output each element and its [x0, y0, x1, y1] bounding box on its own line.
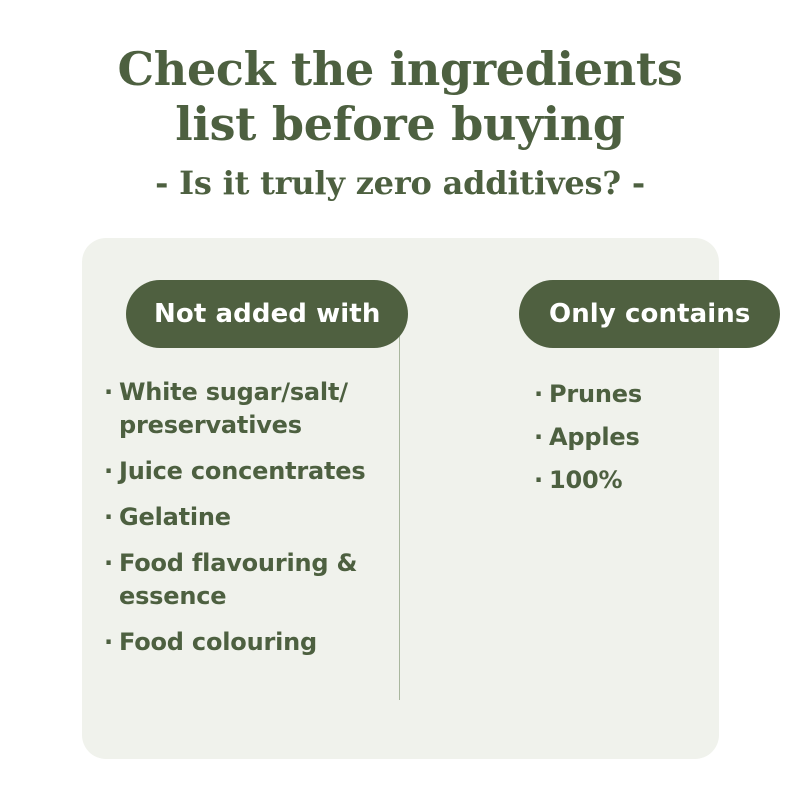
list-item: · 100%: [534, 464, 714, 497]
bullet-icon: ·: [104, 626, 119, 659]
bullet-icon: ·: [104, 455, 119, 488]
list-item-label: Apples: [549, 421, 714, 454]
list-item: · Juice concentrates: [104, 455, 376, 488]
list-item: · White sugar/salt/ preservatives: [104, 376, 376, 442]
list-item-label: Juice concentrates: [119, 455, 376, 488]
title-line-1: Check the ingredients: [0, 42, 800, 97]
poster-root: Check the ingredients list before buying…: [0, 0, 800, 800]
list-item-label: Food flavouring & essence: [119, 547, 376, 613]
list-item: · Food flavouring & essence: [104, 547, 376, 613]
list-item: · Food colouring: [104, 626, 376, 659]
title-line-2: list before buying: [0, 97, 800, 152]
list-item-label: White sugar/salt/ preservatives: [119, 376, 376, 442]
bullet-icon: ·: [104, 376, 119, 409]
card-columns: Not added with · White sugar/salt/ prese…: [82, 238, 719, 759]
list-not-added-with: · White sugar/salt/ preservatives · Juic…: [104, 376, 376, 672]
page-subtitle: - Is it truly zero additives? -: [0, 161, 800, 205]
bullet-icon: ·: [534, 421, 549, 454]
list-item-label: Food colouring: [119, 626, 376, 659]
list-item: · Apples: [534, 421, 714, 454]
list-item: · Prunes: [534, 378, 714, 411]
bullet-icon: ·: [104, 501, 119, 534]
bullet-icon: ·: [104, 547, 119, 580]
bullet-icon: ·: [534, 378, 549, 411]
list-item-label: Prunes: [549, 378, 714, 411]
column-divider: [399, 306, 400, 700]
list-item-label: Gelatine: [119, 501, 376, 534]
list-only-contains: · Prunes · Apples · 100%: [534, 378, 714, 507]
pill-not-added-with: Not added with: [126, 280, 408, 348]
bullet-icon: ·: [534, 464, 549, 497]
page-title: Check the ingredients list before buying…: [0, 42, 800, 205]
pill-only-contains: Only contains: [519, 280, 780, 348]
ingredients-card: Not added with · White sugar/salt/ prese…: [82, 238, 719, 759]
list-item-label: 100%: [549, 464, 714, 497]
list-item: · Gelatine: [104, 501, 376, 534]
